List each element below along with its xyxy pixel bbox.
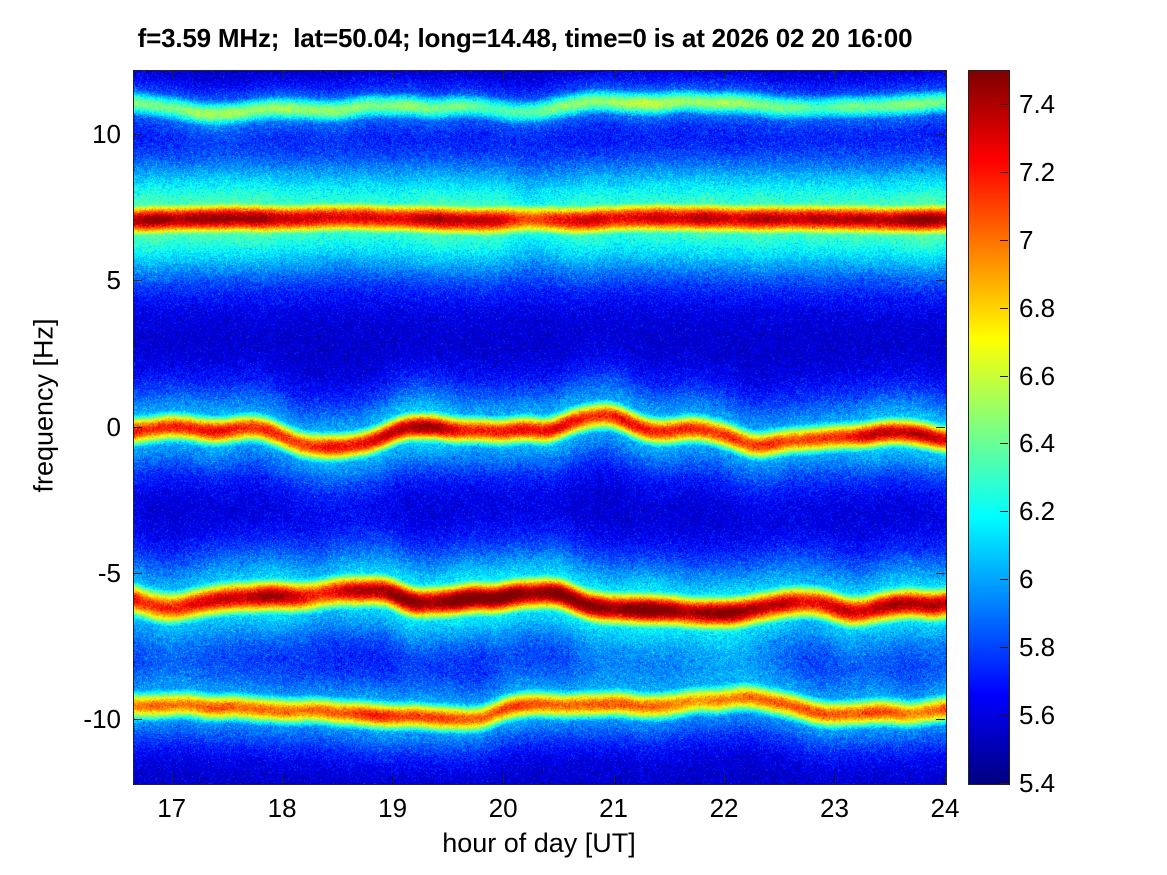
x-tick-mark	[282, 70, 283, 79]
x-tick-mark	[172, 774, 173, 783]
y-axis-label: frequency [Hz]	[29, 76, 60, 736]
colorbar-gradient	[969, 71, 1009, 784]
x-tick-mark	[282, 774, 283, 783]
y-tick-mark	[133, 134, 142, 135]
x-tick-mark	[724, 774, 725, 783]
colorbar-tick-5.6: 5.6	[1019, 702, 1119, 728]
y-tick-mark	[133, 427, 142, 428]
spectrogram-plot-area[interactable]	[133, 70, 947, 785]
x-tick-23: 23	[795, 795, 875, 821]
colorbar-tick-mark	[1000, 104, 1008, 105]
y-tick-neg5: -5	[11, 560, 121, 586]
x-axis-label: hour of day [UT]	[133, 828, 945, 859]
x-tick-mark	[393, 70, 394, 79]
colorbar-tick-mark	[1000, 308, 1008, 309]
colorbar-tick-5.8: 5.8	[1019, 634, 1119, 660]
x-tick-22: 22	[684, 795, 764, 821]
y-tick-mark	[936, 427, 945, 428]
colorbar-tick-mark	[1000, 443, 1008, 444]
y-tick-0: 0	[11, 414, 121, 440]
y-tick-mark	[133, 719, 142, 720]
y-tick-mark	[936, 719, 945, 720]
x-tick-mark	[945, 70, 946, 79]
x-tick-20: 20	[463, 795, 543, 821]
x-tick-mark	[614, 774, 615, 783]
spectrogram-figure: f=3.59 MHz; lat=50.04; long=14.48, time=…	[0, 0, 1167, 875]
x-tick-18: 18	[242, 795, 322, 821]
x-tick-mark	[503, 70, 504, 79]
y-tick-mark	[936, 134, 945, 135]
y-tick-neg10: -10	[11, 706, 121, 732]
colorbar-tick-6.2: 6.2	[1019, 498, 1119, 524]
y-tick-mark	[133, 280, 142, 281]
colorbar-tick-6.6: 6.6	[1019, 363, 1119, 389]
x-tick-mark	[614, 70, 615, 79]
x-tick-mark	[835, 774, 836, 783]
x-tick-mark	[172, 70, 173, 79]
colorbar-tick-mark	[1000, 240, 1008, 241]
page-title: f=3.59 MHz; lat=50.04; long=14.48, time=…	[0, 23, 1050, 54]
colorbar-tick-6.4: 6.4	[1019, 430, 1119, 456]
colorbar-tick-5.4: 5.4	[1019, 770, 1119, 796]
colorbar-tick-mark	[1000, 715, 1008, 716]
x-tick-24: 24	[905, 795, 985, 821]
colorbar-tick-mark	[1000, 172, 1008, 173]
x-tick-19: 19	[353, 795, 433, 821]
x-tick-17: 17	[132, 795, 212, 821]
x-tick-mark	[503, 774, 504, 783]
colorbar-tick-mark	[1000, 579, 1008, 580]
colorbar-tick-6.8: 6.8	[1019, 295, 1119, 321]
y-tick-5: 5	[11, 267, 121, 293]
colorbar-tick-mark	[1000, 647, 1008, 648]
spectrogram-image	[134, 71, 946, 784]
y-tick-mark	[936, 573, 945, 574]
x-tick-mark	[945, 774, 946, 783]
colorbar-tick-mark	[1000, 511, 1008, 512]
colorbar-tick-7.4: 7.4	[1019, 91, 1119, 117]
colorbar-tick-mark	[1000, 376, 1008, 377]
y-tick-10: 10	[11, 121, 121, 147]
colorbar-tick-7.2: 7.2	[1019, 159, 1119, 185]
colorbar[interactable]	[968, 70, 1010, 785]
x-tick-mark	[724, 70, 725, 79]
colorbar-tick-mark	[1000, 783, 1008, 784]
colorbar-tick-7: 7	[1019, 227, 1119, 253]
y-tick-mark	[133, 573, 142, 574]
y-tick-mark	[936, 280, 945, 281]
x-tick-mark	[835, 70, 836, 79]
colorbar-tick-6: 6	[1019, 566, 1119, 592]
x-tick-mark	[393, 774, 394, 783]
x-tick-21: 21	[574, 795, 654, 821]
